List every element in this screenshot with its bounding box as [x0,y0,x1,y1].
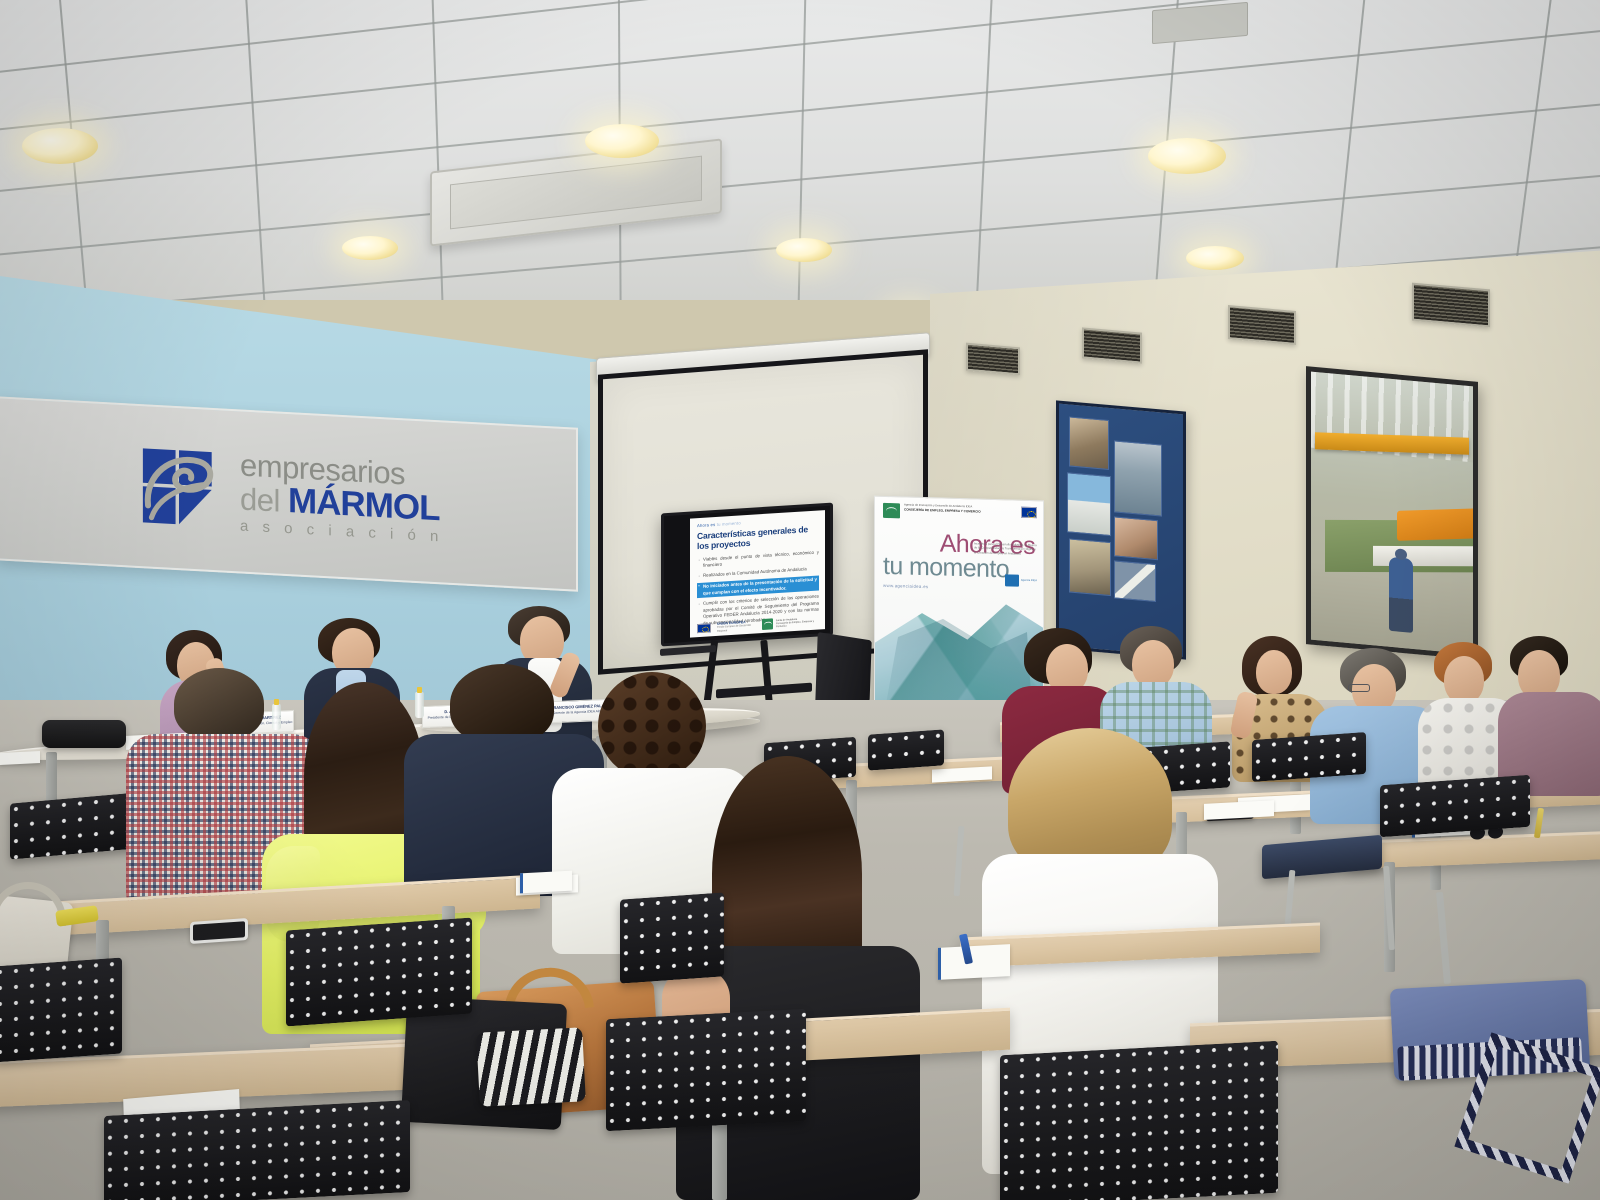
spiral-notepad [520,871,572,894]
junta-text: Junta de Andalucía Consejería de Empleo,… [776,616,819,628]
collage-photo [1114,516,1158,560]
junta-mark-icon [762,618,772,630]
chair-back [104,1100,410,1200]
eu-footer-text: UNIÓN EUROPEA Fondo Europeo de Desarroll… [717,619,756,633]
tablet [190,918,248,944]
marble-photo-collage-panel [1056,400,1186,659]
black-bag [42,720,126,748]
junta-andalucia-logo: Junta de Andalucía Consejería de Empleo,… [762,615,819,630]
chair-back [868,729,944,770]
striped-bag [476,1027,586,1106]
collage-photo [1114,440,1162,516]
hair [598,672,706,780]
chair-back [620,892,724,983]
hair [174,668,264,740]
suspended-ceiling [0,0,1600,300]
presentation-monitor: Ahora es tu momento Características gene… [661,503,833,647]
chair-back [10,792,138,859]
collage-photo [1069,538,1111,596]
water-bottle [272,704,281,730]
chair-back [606,1009,806,1131]
head [1444,656,1484,704]
agencia-idea-logo: Agencia IDEA [1005,574,1037,587]
banner-org-strong: CONSEJERÍA DE EMPLEO, EMPRESA Y COMERCIO [904,507,981,513]
paper-sheet [0,751,40,765]
factory-machine-orange [1397,508,1478,541]
water-bottle [415,692,424,718]
chair-back [1000,1041,1278,1200]
chair-back [0,958,122,1063]
framed-factory-photo [1306,366,1478,660]
hair [450,664,554,744]
ceiling-downlight [1186,246,1244,270]
conference-room-photo: empresarios del MÁRMOL a s o c i a c i ó… [0,0,1600,1200]
head [1256,650,1292,694]
chair-back [1380,775,1530,837]
banner-org-text: Agencia de Innovación y Desarrollo de An… [904,503,981,514]
empresarios-marmol-logo-icon [136,443,222,534]
glasses-icon [1348,684,1370,692]
chair-back [1252,732,1366,782]
banner-logo-row: Agencia de Innovación y Desarrollo de An… [875,497,1043,523]
eu-subtitle: Fondo Europeo de Desarrollo Regional [717,624,756,633]
ceiling-downlight [585,124,659,158]
wall-vent [1228,305,1296,345]
ceiling-downlight [1148,138,1226,174]
factory-worker [1389,557,1413,633]
association-logo-sign: empresarios del MÁRMOL a s o c i a c i ó… [0,396,578,592]
presentation-slide: Ahora es tu momento Características gene… [690,510,825,637]
idea-logo-text: Agencia IDEA [1021,579,1037,583]
wall-vent [1412,283,1490,328]
wall-vent [966,343,1020,376]
spiral-notepad [938,944,1010,980]
collage-photo [1067,472,1111,536]
head [1132,640,1174,688]
idea-mark-icon [1005,574,1019,586]
logo-wordmark: empresarios del MÁRMOL a s o c i a c i ó… [240,449,443,544]
wall-vent [1082,327,1142,363]
banner-side-text: Incentivos para el Desarrollo Industrial… [974,541,1038,556]
slide-title: Características generales de los proyect… [697,523,819,551]
collage-photo [1114,560,1156,602]
eu-flag-icon [1021,507,1037,518]
eu-flag-icon [697,623,711,633]
junta-mark-icon [883,503,900,518]
ceiling-downlight [342,236,398,260]
ceiling-downlight [776,238,832,262]
chair-back [286,917,472,1026]
collage-photo [1069,416,1109,469]
